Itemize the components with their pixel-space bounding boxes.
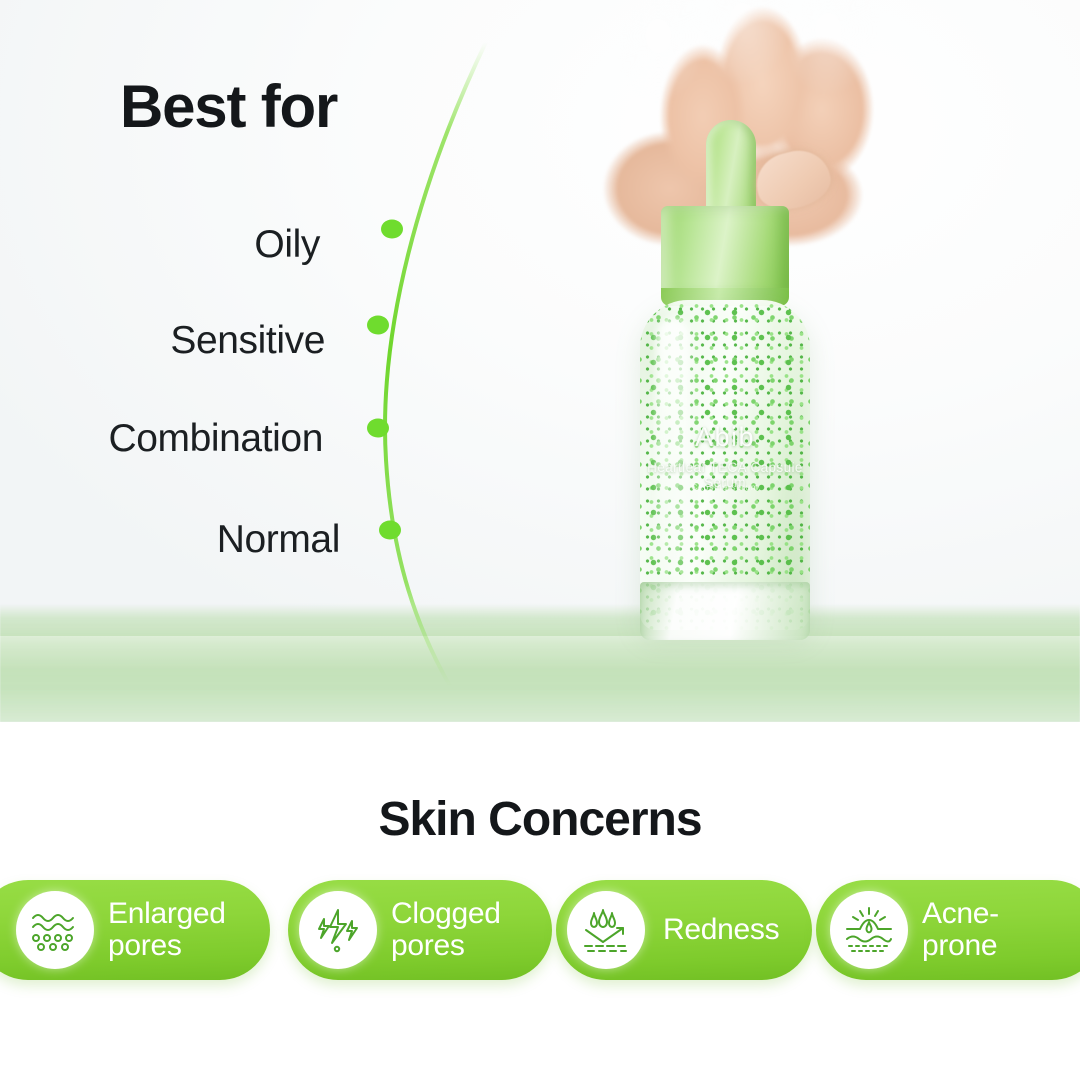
- product-subtitle: Capsule serum: [640, 482, 810, 492]
- product-brand-label: Abib: [640, 422, 810, 453]
- product-photo: Abib Heartleaf TECA Capsule Serum Capsul…: [560, 0, 980, 660]
- skin-type-item-normal: Normal: [0, 520, 345, 559]
- concern-pill-enlarged-pores[interactable]: Enlarged pores: [0, 880, 270, 980]
- acne-prone-icon: [830, 891, 908, 969]
- redness-icon: [567, 891, 645, 969]
- arc-dot-oily: [381, 220, 403, 239]
- dropper-bulb: [706, 120, 756, 218]
- concern-label: Acne- prone: [922, 898, 999, 962]
- concern-pill-clogged-pores[interactable]: Clogged pores: [288, 880, 552, 980]
- knuckle-shade: [620, 0, 716, 114]
- arc-dot-sensitive: [367, 316, 389, 335]
- concern-pill-acne-prone[interactable]: Acne- prone: [816, 880, 1080, 980]
- skin-type-arc: [300, 30, 580, 690]
- concern-label: Enlarged pores: [108, 898, 226, 962]
- arc-dot-combination: [367, 419, 389, 438]
- concern-pill-redness[interactable]: Redness: [556, 880, 812, 980]
- bottle-cap: [661, 206, 789, 298]
- knuckle-shade: [704, 0, 800, 98]
- knuckle-shade: [790, 0, 886, 108]
- clogged-pores-icon: [299, 891, 377, 969]
- enlarged-pores-icon: [16, 891, 94, 969]
- skin-concerns-title: Skin Concerns: [0, 792, 1080, 847]
- skin-type-item-sensitive: Sensitive: [0, 321, 345, 360]
- skin-type-item-oily: Oily: [0, 225, 345, 264]
- best-for-hero-panel: Best for Oily Sensitive Combination Norm…: [0, 0, 1080, 722]
- concern-label: Redness: [663, 914, 779, 946]
- skin-type-item-combination: Combination: [0, 419, 345, 458]
- concern-label: Clogged pores: [391, 898, 501, 962]
- bottle-glass-base: [640, 582, 810, 640]
- skin-concerns-pill-row: Enlarged pores Clogged pores: [0, 880, 1080, 985]
- arc-dot-normal: [379, 521, 401, 540]
- serum-bottle: Abib Heartleaf TECA Capsule Serum Capsul…: [640, 300, 810, 630]
- skin-concerns-section: Skin Concerns Enlarged pores: [0, 722, 1080, 1080]
- skin-type-list: Oily Sensitive Combination Normal: [0, 225, 345, 559]
